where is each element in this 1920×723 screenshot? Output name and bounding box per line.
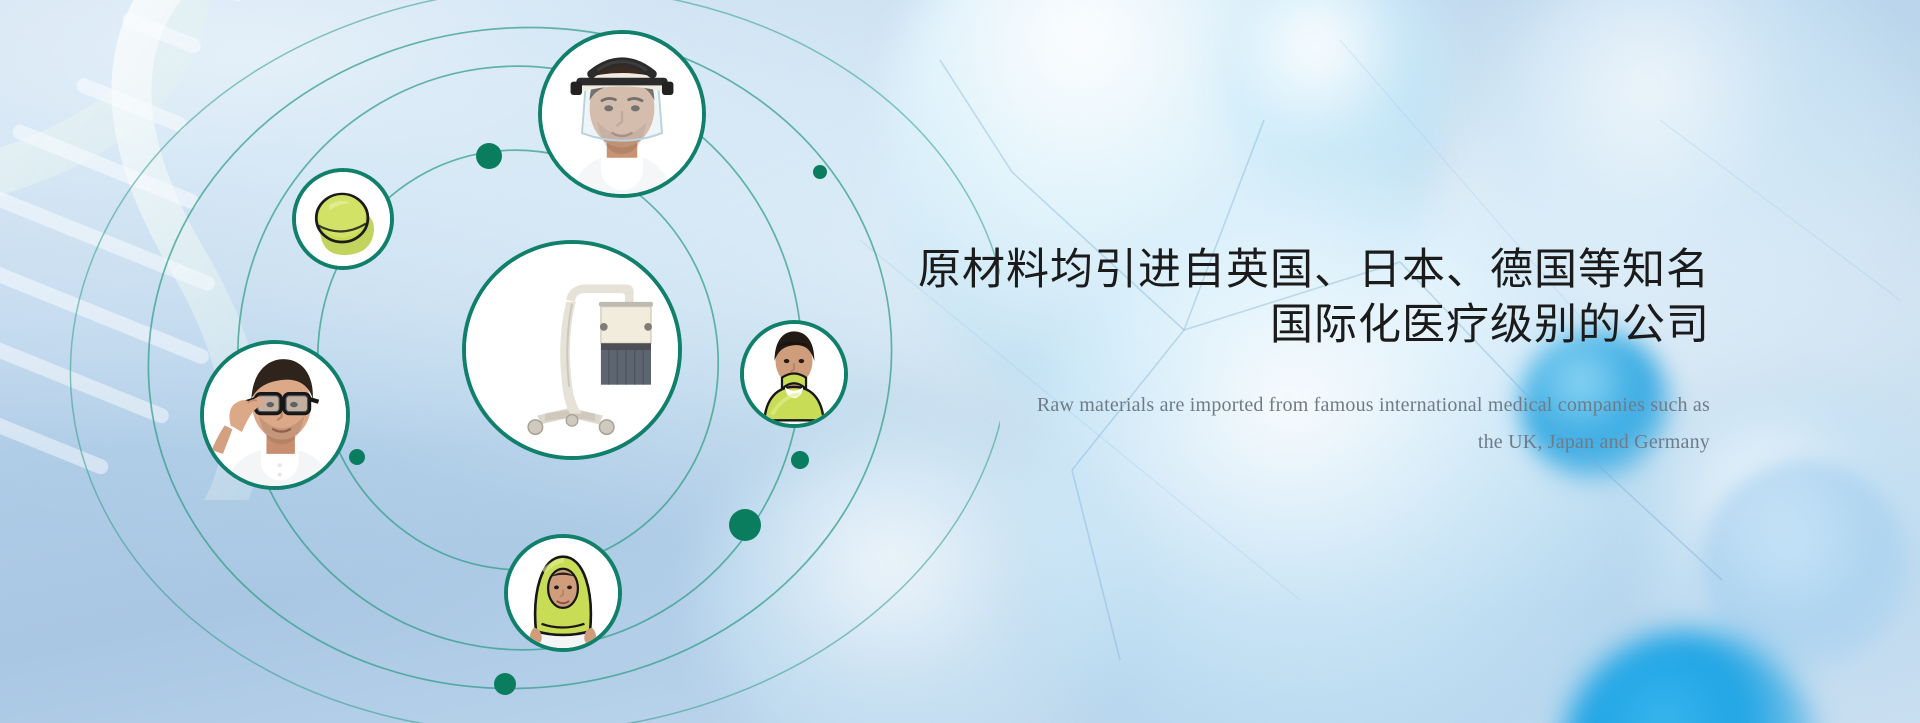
orbit-dot [349, 449, 365, 465]
product-node-thyroid-collar[interactable] [740, 320, 848, 428]
product-node-faceshield[interactable] [538, 30, 706, 198]
orbit-dot [729, 509, 761, 541]
headline-line-2: 国际化医疗级别的公司 [910, 298, 1710, 353]
face-shield-icon [542, 34, 702, 194]
subtitle-line-1: Raw materials are imported from famous i… [1037, 394, 1710, 416]
lead-cap-icon [296, 172, 390, 266]
subtitle: Raw materials are imported from famous i… [910, 387, 1710, 461]
subtitle-line-2: the UK, Japan and Germany [910, 424, 1710, 461]
mobile-shield-screen-icon [466, 244, 678, 456]
orbit-dot [813, 165, 827, 179]
product-node-lead-cap[interactable] [292, 168, 394, 270]
orbit-dot [791, 451, 809, 469]
orbit-dot [476, 143, 502, 169]
promo-banner: 原材料均引进自英国、日本、德国等知名 国际化医疗级别的公司 Raw materi… [0, 0, 1920, 723]
product-node-protection-screen[interactable] [462, 240, 682, 460]
product-node-lead-hood[interactable] [504, 534, 622, 652]
headline-line-1: 原材料均引进自英国、日本、德国等知名 [918, 246, 1710, 294]
molecule-sphere [1220, 0, 1460, 200]
page-title: 原材料均引进自英国、日本、德国等知名 国际化医疗级别的公司 [910, 243, 1710, 353]
molecule-sphere [1560, 630, 1820, 723]
lead-hood-icon [508, 538, 618, 648]
molecule-sphere [1700, 460, 1910, 670]
banner-copy: 原材料均引进自英国、日本、德国等知名 国际化医疗级别的公司 Raw materi… [910, 214, 1710, 481]
lead-glasses-icon [204, 344, 346, 486]
product-node-lead-glasses[interactable] [200, 340, 350, 490]
thyroid-collar-icon [744, 324, 844, 424]
orbit-dot [494, 673, 516, 695]
